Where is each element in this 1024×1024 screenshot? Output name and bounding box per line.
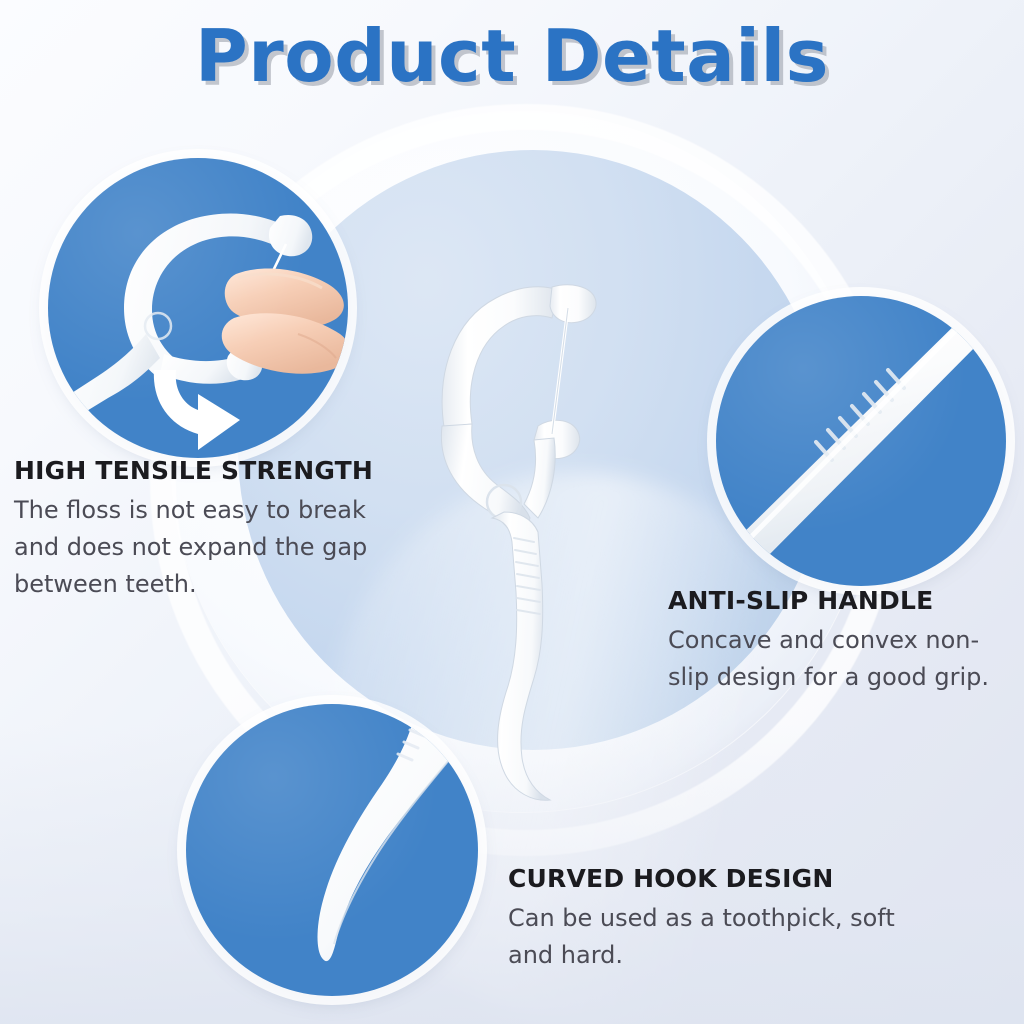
handle-highlight — [746, 318, 968, 542]
callout-circle-hook — [186, 704, 478, 996]
fork-left-arm — [442, 287, 558, 427]
fork-yoke-right — [524, 438, 555, 518]
feature-heading-tensile: HIGH TENSILE STRENGTH — [14, 456, 374, 485]
handle-and-pick-tip — [492, 512, 550, 800]
page-title: Product Details — [0, 14, 1024, 98]
handle-band — [736, 314, 984, 564]
feature-body-tensile: The floss is not easy to break and does … — [14, 492, 374, 603]
feature-heading-handle: ANTI-SLIP HANDLE — [668, 586, 1018, 615]
floss-pick-handle — [58, 334, 160, 420]
feature-block-tensile: HIGH TENSILE STRENGTH The floss is not e… — [14, 456, 374, 603]
floss-pick-top-knob — [269, 215, 312, 256]
feature-block-handle: ANTI-SLIP HANDLE Concave and convex non-… — [668, 586, 1018, 696]
product-details-infographic: Product Details — [0, 0, 1024, 1024]
feature-heading-hook: CURVED HOOK DESIGN — [508, 864, 908, 893]
curved-hook-tip-icon — [186, 704, 478, 996]
fork-top-knob — [550, 285, 596, 323]
floss-pick-fingers-pull-icon — [48, 158, 348, 458]
floss-string-shade — [552, 308, 568, 434]
callout-circle-tensile — [48, 158, 348, 458]
feature-block-hook: CURVED HOOK DESIGN Can be used as a toot… — [508, 864, 908, 974]
feature-body-handle: Concave and convex non-slip design for a… — [668, 622, 1018, 696]
feature-body-hook: Can be used as a toothpick, soft and har… — [508, 900, 908, 974]
ridged-handle-closeup-icon — [716, 296, 1006, 586]
callout-circle-handle — [716, 296, 1006, 586]
